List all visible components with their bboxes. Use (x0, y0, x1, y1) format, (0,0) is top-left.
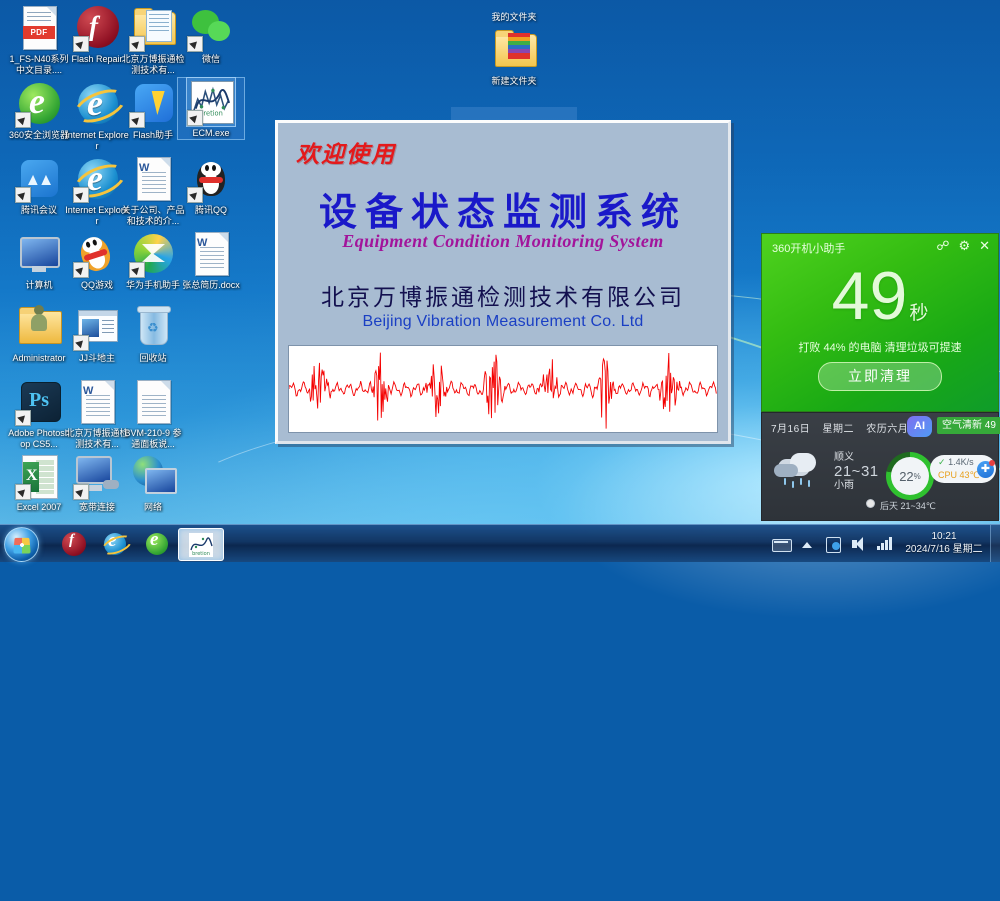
icon-label: 360安全浏览器 (6, 130, 72, 141)
rain-cloud-icon (774, 453, 828, 491)
desktop-icon-ecm-exe[interactable]: bretion ECM.exe (178, 78, 244, 139)
desktop-icon-company-intro-doc[interactable]: W 关于公司、产品和技术的介... (120, 155, 186, 226)
cpu-usage-value: 22% (891, 457, 929, 495)
desktop-icon-pdf-catalog[interactable]: PDF 1_FS-N40系列中文目录.... (6, 4, 72, 75)
internet-explorer-icon (73, 80, 121, 128)
widget-360-boot-assistant[interactable]: 360开机小助手 ☍ ⚙ ✕ 49秒 打败 44% 的电脑 清理垃圾可提速 立即… (761, 233, 999, 412)
qq-penguin-icon (187, 155, 235, 203)
widget-360-toolbar[interactable]: ☍ ⚙ ✕ (936, 239, 990, 252)
desktop-icon-bvm-210-doc[interactable]: BVM-210-9 参通面板说... (120, 378, 186, 449)
weather-details: 顺义 21~31 小雨 (834, 451, 879, 493)
weather-temp-range: 21~31 (834, 465, 879, 479)
icon-label: 计算机 (6, 280, 72, 291)
ai-badge[interactable]: AI (907, 416, 932, 437)
app-title-cn: 设备状态监测系统 (278, 181, 728, 236)
computer-icon (15, 230, 63, 278)
app-title-en: Equipment Condition Monitoring System (278, 231, 728, 252)
clean-now-button[interactable]: 立即清理 (818, 362, 942, 391)
gear-icon[interactable]: ⚙ (958, 239, 970, 252)
system-tray[interactable]: 10:21 2024/7/16 星期二 (768, 525, 1000, 562)
company-name-en: Beijing Vibration Measurement Co. Ltd (278, 313, 728, 331)
boot-time-value: 49秒 (762, 262, 998, 348)
input-method-icon[interactable] (771, 534, 791, 554)
accelerate-button[interactable]: ✚ (977, 461, 994, 478)
weather-weekday: 星期二 (822, 424, 854, 435)
weather-status-widget[interactable]: 7月16日 星期二 农历六月十一 AI 空气清新 49 顺义 21~31 小雨 … (761, 412, 999, 521)
broadband-connection-icon (73, 452, 121, 500)
desktop-icon-flash-helper[interactable]: Flash助手 (120, 80, 186, 141)
network-signal-icon[interactable] (875, 534, 895, 554)
icon-label: 腾讯QQ (178, 205, 244, 216)
widget-360-subtitle: 打败 44% 的电脑 清理垃圾可提速 (762, 339, 998, 355)
desktop-icon-360-browser[interactable]: 360安全浏览器 (6, 80, 72, 141)
word-document-icon: W (187, 230, 235, 278)
show-desktop-button[interactable] (990, 525, 1000, 562)
desktop-icon-excel-2007[interactable]: Excel 2007 (6, 452, 72, 513)
desktop-icon-wechat[interactable]: 微信 (178, 4, 244, 65)
network-icon (129, 452, 177, 500)
folder-window-footer (451, 107, 577, 121)
desktop-icon-huawei-assistant[interactable]: 华为手机助手 (120, 230, 186, 291)
desktop-icon-network[interactable]: 网络 (120, 452, 186, 513)
weather-date: 7月16日 (771, 424, 810, 435)
ecm-waveform-icon: bretion (187, 78, 235, 126)
icon-label: 微信 (178, 54, 244, 65)
icon-label: Flash助手 (120, 130, 186, 141)
taskbar-button-internet-explorer[interactable]: e (93, 528, 137, 559)
desktop-icon-photoshop[interactable]: Adobe Photoshop CS5... (6, 378, 72, 449)
welcome-text: 欢迎使用 (296, 135, 396, 169)
icon-label: Administrator (6, 353, 72, 364)
excel-icon (15, 452, 63, 500)
company-name-cn: 北京万博振通检测技术有限公司 (278, 278, 728, 312)
user-folder-icon (15, 303, 63, 351)
flash-repair-icon: f (73, 4, 121, 52)
splash-window[interactable]: 欢迎使用 设备状态监测系统 Equipment Condition Monito… (275, 120, 731, 444)
icon-label: BVM-210-9 参通面板说... (120, 428, 186, 449)
flash-icon: f (62, 532, 86, 556)
icon-label: 腾讯会议 (6, 205, 72, 216)
icon-label: Excel 2007 (6, 502, 72, 513)
huawei-assistant-icon (129, 230, 177, 278)
desktop-icon-administrator[interactable]: Administrator (6, 303, 72, 364)
boot-time-unit: 秒 (909, 303, 928, 324)
icon-label: ECM.exe (178, 128, 244, 139)
network-speed: 1.4K/s (948, 457, 974, 467)
ecm-waveform-icon: bretion (189, 533, 213, 557)
sun-icon (864, 497, 877, 510)
svg-text:bretion: bretion (192, 551, 210, 557)
icon-label: Adobe Photoshop CS5... (6, 428, 72, 449)
volume-icon[interactable] (849, 534, 869, 554)
flash-helper-icon (129, 80, 177, 128)
taskbar-button-flash-repair[interactable]: f (52, 528, 96, 559)
pdf-document-icon: PDF (15, 4, 63, 52)
taskbar-button-ecm-app[interactable]: bretion (178, 528, 224, 561)
folder-colored-icon (490, 26, 538, 74)
cpu-usage-ring[interactable]: 22% (886, 452, 934, 500)
document-icon (129, 378, 177, 426)
internet-explorer-icon: e (103, 532, 127, 556)
icon-label: 1_FS-N40系列中文目录.... (6, 54, 72, 75)
icon-label: 北京万博振通检测技术有... (120, 54, 186, 75)
qq-games-icon (73, 230, 121, 278)
folder-window-item[interactable]: 新建文件夹 (481, 26, 547, 87)
window-app-icon (73, 303, 121, 351)
taskbar-button-360-browser[interactable]: e (135, 528, 179, 559)
vibration-waveform-panel (288, 345, 718, 433)
taskbar[interactable]: f e e bretion (0, 524, 1000, 562)
desktop-icon-tencent-qq[interactable]: 腾讯QQ (178, 155, 244, 216)
recycle-bin-icon: ♻ (129, 303, 177, 351)
clock-time: 10:21 (898, 530, 990, 543)
photoshop-icon (15, 378, 63, 426)
tencent-meeting-icon (15, 155, 63, 203)
vibration-waveform-icon (289, 346, 717, 432)
start-button[interactable] (4, 527, 39, 562)
internet-explorer-icon (73, 155, 121, 203)
word-document-icon: W (129, 155, 177, 203)
desktop-icon-resume-docx[interactable]: W 张总简历.docx (178, 230, 244, 291)
desktop-icon-tencent-meeting[interactable]: 腾讯会议 (6, 155, 72, 216)
icon-label: 关于公司、产品和技术的介... (120, 205, 186, 226)
air-quality-badge[interactable]: 空气清新 49 (937, 417, 1000, 434)
widget-360-title: 360开机小助手 (772, 240, 845, 256)
desktop-icon-company-folder[interactable]: 北京万博振通检测技术有... (120, 4, 186, 75)
icon-label: 张总简历.docx (178, 280, 244, 291)
desktop-icon-computer[interactable]: 计算机 (6, 230, 72, 291)
desktop-icon-recycle-bin[interactable]: ♻ 回收站 (120, 303, 186, 364)
wechat-icon (187, 4, 235, 52)
browser-360-icon (15, 80, 63, 128)
shirt-icon[interactable]: ☍ (936, 239, 949, 252)
icon-label: 网络 (120, 502, 186, 513)
clock-date: 2024/7/16 星期二 (898, 543, 990, 556)
icon-label: 回收站 (120, 353, 186, 364)
icon-label: 华为手机助手 (120, 280, 186, 291)
close-icon[interactable]: ✕ (979, 239, 990, 252)
folder-icon (129, 4, 177, 52)
weather-condition: 小雨 (834, 479, 879, 493)
browser-360-icon: e (145, 532, 169, 556)
word-document-icon: W (73, 378, 121, 426)
folder-item-label: 新建文件夹 (481, 76, 547, 87)
tomorrow-forecast: 后天 21~34℃ (880, 499, 936, 512)
show-hidden-icons-icon[interactable] (797, 534, 817, 554)
check-icon: ✓ (938, 457, 946, 467)
folder-window-title: 我的文件夹 (451, 10, 577, 23)
taskbar-clock[interactable]: 10:21 2024/7/16 星期二 (898, 530, 990, 557)
folder-window[interactable]: 我的文件夹 新建文件夹 (451, 0, 577, 121)
action-center-icon[interactable] (823, 534, 843, 554)
splash-content: 欢迎使用 设备状态监测系统 Equipment Condition Monito… (278, 123, 728, 441)
